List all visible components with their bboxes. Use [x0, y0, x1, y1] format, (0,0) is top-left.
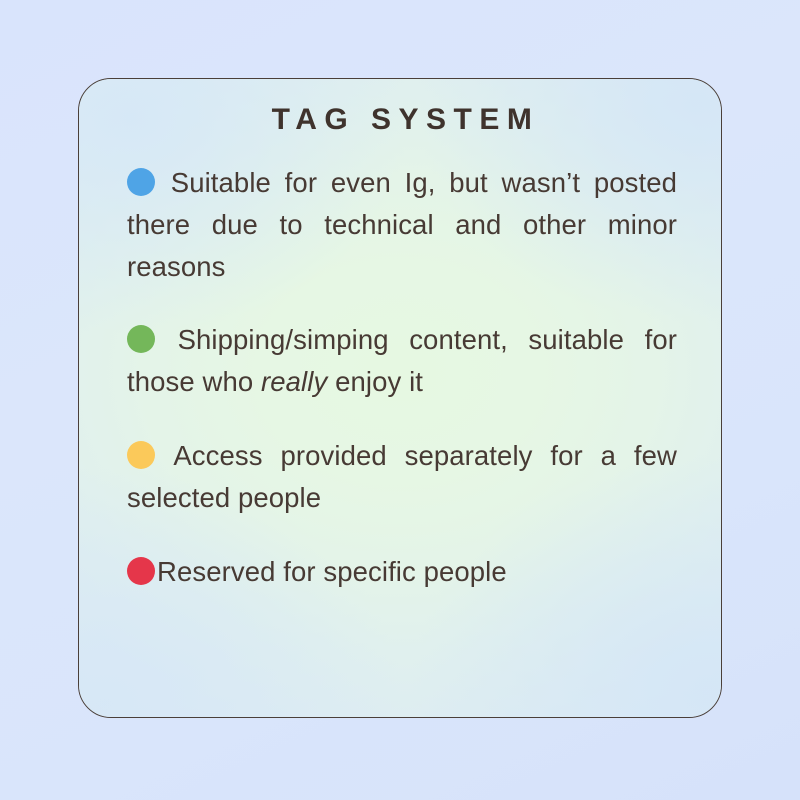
tag-label-part: Access provided separately for a few sel… — [127, 440, 677, 513]
page-title: TAG SYSTEM — [127, 103, 677, 136]
tag-legend-label: Reserved for specific people — [157, 556, 507, 587]
page-canvas: TAG SYSTEM Suitable for even Ig, but was… — [0, 0, 800, 800]
tag-legend-list: Suitable for even Ig, but wasn’t posted … — [127, 162, 677, 592]
tag-legend-item: Suitable for even Ig, but wasn’t posted … — [127, 162, 677, 287]
tag-label-part: Suitable for even Ig, but wasn’t posted … — [127, 167, 677, 282]
green-dot-icon — [127, 325, 155, 353]
tag-label-emphasis: really — [261, 366, 327, 397]
tag-legend-label: Shipping/simping content, suitable for t… — [127, 324, 677, 397]
tag-legend-label: Suitable for even Ig, but wasn’t posted … — [127, 167, 677, 282]
tag-legend-item: Shipping/simping content, suitable for t… — [127, 319, 677, 403]
yellow-dot-icon — [127, 441, 155, 469]
blue-dot-icon — [127, 168, 155, 196]
tag-legend-item: Access provided separately for a few sel… — [127, 435, 677, 519]
tag-legend-label: Access provided separately for a few sel… — [127, 440, 677, 513]
tag-legend-item: Reserved for specific people — [127, 551, 677, 593]
tag-label-part: enjoy it — [327, 366, 423, 397]
tag-label-part: Reserved for specific people — [157, 556, 507, 587]
red-dot-icon — [127, 557, 155, 585]
card-content: TAG SYSTEM Suitable for even Ig, but was… — [79, 79, 721, 592]
tag-system-card: TAG SYSTEM Suitable for even Ig, but was… — [78, 78, 722, 718]
